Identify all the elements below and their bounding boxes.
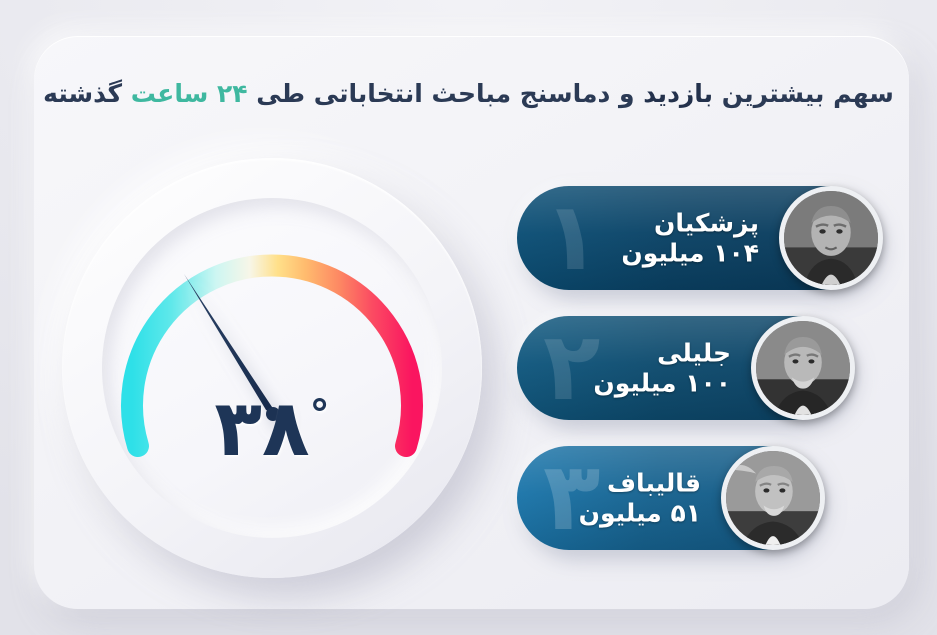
candidate-card-1[interactable]: ۱ پزشکیان ۱۰۴ میلیون <box>517 186 877 290</box>
avatar-photo-3 <box>726 451 820 545</box>
gauge-degree-symbol: ° <box>310 392 330 438</box>
candidate-count-1: ۱۰۴ میلیون <box>621 238 759 268</box>
gauge-arc-graphic <box>62 158 482 578</box>
rank-number-2: ۲ <box>543 321 600 415</box>
title-accent-24h: ۲۴ ساعت <box>131 79 248 108</box>
candidate-name-1: پزشکیان <box>621 209 759 239</box>
gauge-value-display: ۳۸° <box>62 390 482 468</box>
candidate-info-3: قالیباف ۵۱ میلیون <box>579 469 701 528</box>
page-title: سهم بیشترین بازدید و دماسنج مباحث انتخاب… <box>0 78 937 111</box>
candidate-count-3: ۵۱ میلیون <box>579 498 701 528</box>
pezeshkian-avatar <box>779 186 883 290</box>
candidate-name-2: جلیلی <box>593 339 731 369</box>
candidate-info-2: جلیلی ۱۰۰ میلیون <box>593 339 731 398</box>
candidate-ranking-list: ۱ پزشکیان ۱۰۴ میلیون <box>517 186 877 576</box>
candidate-info-1: پزشکیان ۱۰۴ میلیون <box>621 209 759 268</box>
rank-number-1: ۱ <box>543 191 600 285</box>
gauge-value-number: ۳۸ <box>214 384 309 474</box>
title-part-3: گذشته <box>43 79 131 108</box>
avatar-photo-2 <box>756 321 850 415</box>
candidate-name-3: قالیباف <box>579 469 701 499</box>
avatar-photo-1 <box>784 191 878 285</box>
title-bold-visits: بازدید <box>643 79 713 108</box>
jalili-avatar <box>751 316 855 420</box>
title-part-1: سهم بیشترین <box>713 79 894 108</box>
candidate-count-2: ۱۰۰ میلیون <box>593 368 731 398</box>
candidate-card-2[interactable]: ۲ جلیلی ۱۰۰ میلیون <box>517 316 849 420</box>
ghalibaf-avatar <box>721 446 825 550</box>
title-part-2: و دماسنج مباحث انتخاباتی طی <box>248 79 644 108</box>
temperature-gauge: ۳۸° <box>62 158 482 578</box>
candidate-card-3[interactable]: ۳ قالیباف ۵۱ میلیون <box>517 446 819 550</box>
